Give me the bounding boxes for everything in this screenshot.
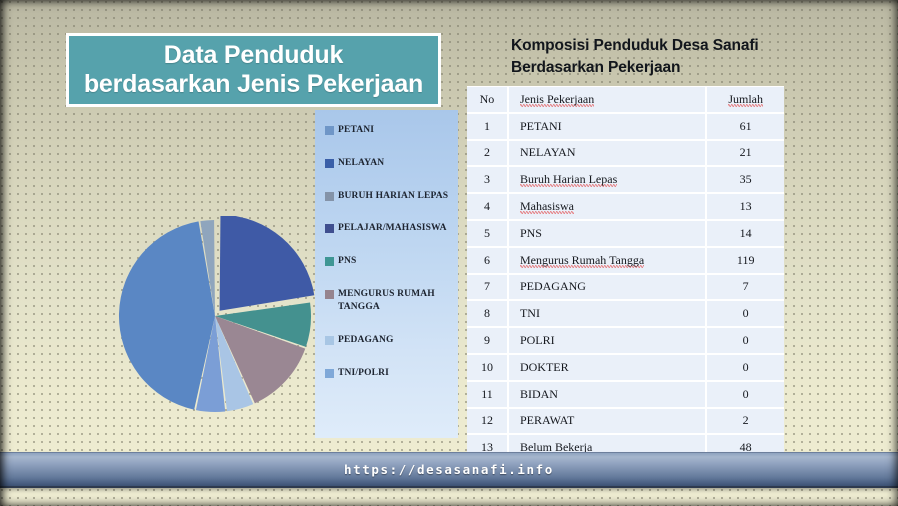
table-row: 7PEDAGANG7 (467, 274, 784, 301)
cell-job: PERAWAT (508, 408, 706, 435)
legend-swatch-icon (325, 290, 334, 299)
legend-swatch-icon (325, 336, 334, 345)
legend-item: PEDAGANG (325, 334, 450, 347)
slide-title-line1: Data Penduduk (164, 41, 343, 69)
cell-job: NELAYAN (508, 140, 706, 167)
slide-title-text: Data Penduduk berdasarkan Jenis Pekerjaa… (78, 41, 429, 100)
table-row: 1PETANI61 (467, 113, 784, 140)
column-header-label: No (480, 92, 495, 106)
cell-no: 6 (467, 247, 508, 274)
cell-job-label: PETANI (520, 119, 562, 133)
table-col-header-no: No (467, 87, 508, 113)
table-col-header-job: Jenis Pekerjaan (508, 87, 706, 113)
legend-item: MENGURUS RUMAH TANGGA (325, 288, 450, 314)
cell-job-label: TNI (520, 306, 540, 320)
cell-no: 9 (467, 327, 508, 354)
legend-item-label: PNS (338, 255, 356, 268)
column-header-label: Jenis Pekerjaan (520, 92, 594, 107)
cell-job-label: Mengurus Rumah Tangga (520, 253, 644, 268)
cell-count: 13 (706, 193, 784, 220)
legend-item-label: TNI/POLRI (338, 367, 389, 380)
cell-count: 0 (706, 300, 784, 327)
legend-swatch-icon (325, 257, 334, 266)
pie-chart-graphic (115, 216, 315, 416)
legend-item-label: PEDAGANG (338, 334, 394, 347)
table-row: 9POLRI0 (467, 327, 784, 354)
cell-no: 4 (467, 193, 508, 220)
legend-swatch-icon (325, 224, 334, 233)
population-table-container: No Jenis Pekerjaan Jumlah 1PETANI612NELA… (467, 86, 784, 462)
legend-swatch-icon (325, 159, 334, 168)
legend-item: PNS (325, 255, 450, 268)
table-heading: Komposisi Penduduk Desa Sanafi Berdasark… (511, 35, 811, 79)
cell-no: 8 (467, 300, 508, 327)
legend-item-label: PETANI (338, 124, 374, 137)
cell-job: PETANI (508, 113, 706, 140)
cell-count: 119 (706, 247, 784, 274)
legend-item: NELAYAN (325, 157, 450, 170)
cell-job-label: Mahasiswa (520, 199, 574, 214)
footer-url[interactable]: https://desasanafi.info (344, 462, 554, 477)
table-header-row: No Jenis Pekerjaan Jumlah (467, 87, 784, 113)
cell-job: Mahasiswa (508, 193, 706, 220)
slide-title-box: Data Penduduk berdasarkan Jenis Pekerjaa… (66, 33, 441, 107)
cell-job: Mengurus Rumah Tangga (508, 247, 706, 274)
cell-job: TNI (508, 300, 706, 327)
cell-count: 35 (706, 166, 784, 193)
chart-legend-panel: PETANINELAYANBURUH HARIAN LEPASPELAJAR/M… (315, 110, 458, 438)
table-row: 12PERAWAT2 (467, 408, 784, 435)
table-body: 1PETANI612NELAYAN213Buruh Harian Lepas35… (467, 113, 784, 460)
pie-slice (119, 221, 215, 409)
cell-no: 10 (467, 354, 508, 381)
pie-chart-area: PETANINELAYANBURUH HARIAN LEPASPELAJAR/M… (100, 108, 455, 438)
cell-no: 1 (467, 113, 508, 140)
cell-count: 0 (706, 381, 784, 408)
cell-job-label: Buruh Harian Lepas (520, 172, 617, 187)
cell-no: 5 (467, 220, 508, 247)
cell-job: Buruh Harian Lepas (508, 166, 706, 193)
legend-swatch-icon (325, 369, 334, 378)
table-row: 4Mahasiswa13 (467, 193, 784, 220)
legend-item: PELAJAR/MAHASISWA (325, 222, 450, 235)
cell-count: 0 (706, 327, 784, 354)
cell-no: 12 (467, 408, 508, 435)
footer-bar: https://desasanafi.info (0, 452, 898, 488)
table-heading-line1: Komposisi Penduduk Desa Sanafi (511, 37, 759, 54)
cell-job-label: PERAWAT (520, 413, 574, 427)
cell-job-label: DOKTER (520, 360, 569, 374)
pie-slice (220, 216, 315, 311)
cell-job-label: PEDAGANG (520, 279, 586, 293)
cell-job-label: BIDAN (520, 387, 558, 401)
cell-count: 2 (706, 408, 784, 435)
cell-job: PNS (508, 220, 706, 247)
cell-count: 14 (706, 220, 784, 247)
cell-count: 21 (706, 140, 784, 167)
legend-item-label: BURUH HARIAN LEPAS (338, 190, 448, 203)
table-row: 6Mengurus Rumah Tangga119 (467, 247, 784, 274)
cell-count: 0 (706, 354, 784, 381)
cell-no: 3 (467, 166, 508, 193)
legend-item: PETANI (325, 124, 450, 137)
cell-job: POLRI (508, 327, 706, 354)
table-col-header-jumlah: Jumlah (706, 87, 784, 113)
table-row: 2NELAYAN21 (467, 140, 784, 167)
cell-job-label: POLRI (520, 333, 555, 347)
cell-count: 61 (706, 113, 784, 140)
legend-swatch-icon (325, 192, 334, 201)
table-row: 3Buruh Harian Lepas35 (467, 166, 784, 193)
legend-item: TNI/POLRI (325, 367, 450, 380)
cell-no: 2 (467, 140, 508, 167)
table-row: 11BIDAN0 (467, 381, 784, 408)
legend-item-label: NELAYAN (338, 157, 384, 170)
table-row: 5PNS14 (467, 220, 784, 247)
table-heading-line2: Berdasarkan Pekerjaan (511, 59, 680, 76)
table-row: 10DOKTER0 (467, 354, 784, 381)
cell-no: 7 (467, 274, 508, 301)
cell-job: DOKTER (508, 354, 706, 381)
legend-item-label: PELAJAR/MAHASISWA (338, 222, 447, 235)
column-header-label: Jumlah (728, 92, 763, 107)
cell-job: PEDAGANG (508, 274, 706, 301)
legend-swatch-icon (325, 126, 334, 135)
cell-job-label: PNS (520, 226, 542, 240)
presentation-slide: Data Penduduk berdasarkan Jenis Pekerjaa… (0, 0, 898, 506)
legend-item: BURUH HARIAN LEPAS (325, 190, 450, 203)
cell-count: 7 (706, 274, 784, 301)
legend-item-label: MENGURUS RUMAH TANGGA (338, 288, 450, 314)
population-table: No Jenis Pekerjaan Jumlah 1PETANI612NELA… (467, 87, 784, 460)
slide-title-line2: berdasarkan Jenis Pekerjaan (84, 70, 423, 98)
pie-chart-svg (115, 216, 315, 416)
cell-job-label: NELAYAN (520, 145, 576, 159)
table-row: 8TNI0 (467, 300, 784, 327)
table-head: No Jenis Pekerjaan Jumlah (467, 87, 784, 113)
cell-no: 11 (467, 381, 508, 408)
cell-job: BIDAN (508, 381, 706, 408)
